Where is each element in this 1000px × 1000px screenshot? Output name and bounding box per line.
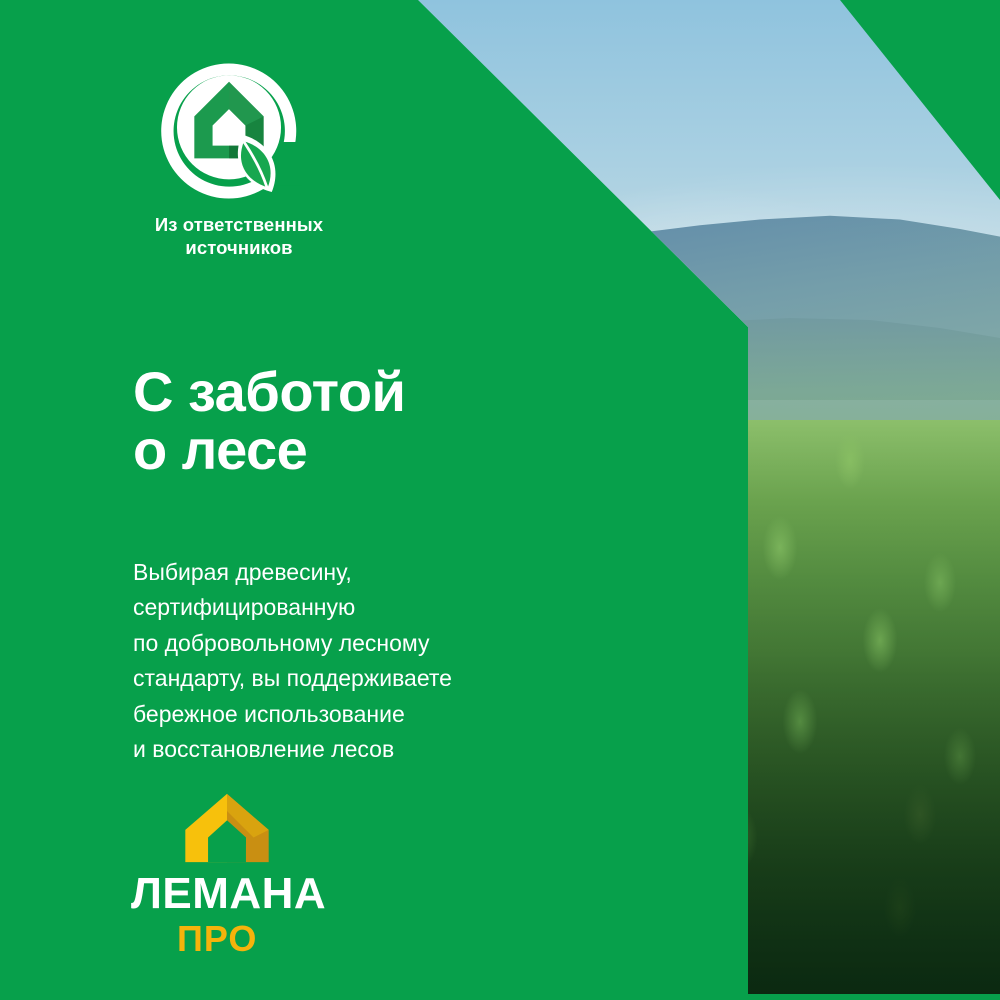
brand-name: ЛЕМАНА xyxy=(131,872,311,916)
page-title: С заботой о лесе xyxy=(133,363,405,479)
eco-badge-caption: Из ответственных источников xyxy=(132,214,346,259)
house-leaf-circle-icon xyxy=(156,58,302,204)
green-content-panel: Из ответственных источников С заботой о … xyxy=(0,0,748,1000)
brand-logo: ЛЕМАНА ПРО xyxy=(131,792,311,957)
body-paragraph: Выбирая древесину, сертифицированную по … xyxy=(133,555,452,767)
lemana-house-icon xyxy=(179,792,275,864)
poster-canvas: Из ответственных источников С заботой о … xyxy=(0,0,1000,1000)
brand-sub: ПРО xyxy=(177,921,311,957)
bottom-green-strip xyxy=(748,994,1000,1000)
eco-badge: Из ответственных источников xyxy=(132,58,462,259)
